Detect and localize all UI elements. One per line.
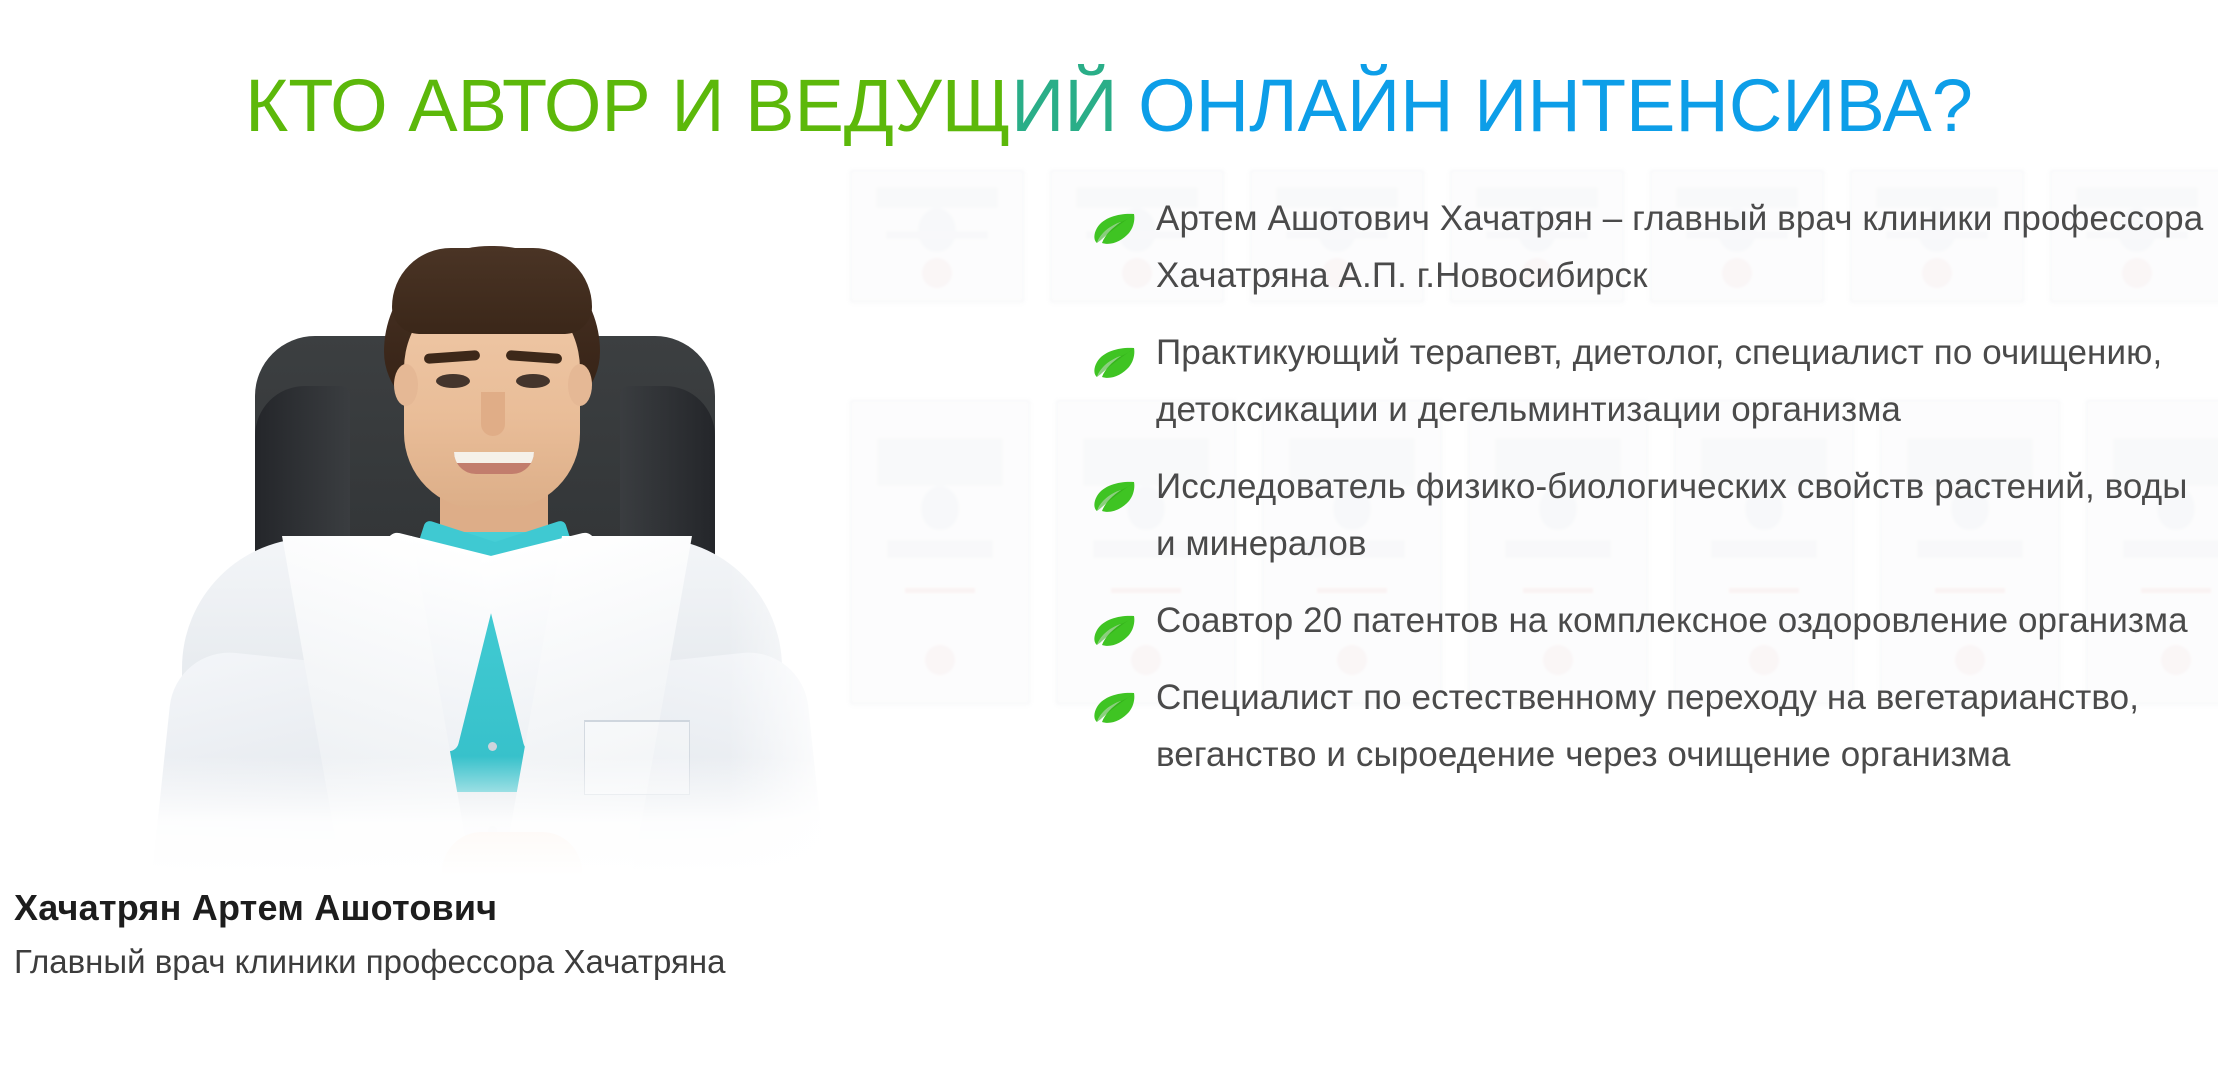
- leaf-icon: [1092, 338, 1136, 370]
- portrait-image: [12, 186, 844, 876]
- doctor-portrait-photo: [12, 186, 844, 876]
- leaf-icon: [1092, 606, 1136, 638]
- leaf-icon: [1092, 204, 1136, 236]
- list-item-text: Специалист по естественному переходу на …: [1156, 678, 2139, 774]
- list-item: Исследователь физико-биологических свойс…: [1090, 458, 2210, 572]
- list-item: Специалист по естественному переходу на …: [1090, 669, 2210, 783]
- list-item: Соавтор 20 патентов на комплексное оздор…: [1090, 592, 2210, 649]
- page-title-green-part: КТО АВТОР И ВЕДУЩ: [245, 64, 1011, 147]
- photo-caption: Хачатрян Артем Ашотович Главный врач кли…: [14, 884, 834, 986]
- page-title-blue-part: ОНЛАЙН ИНТЕНСИВА?: [1138, 64, 1973, 147]
- photo-bottom-fade: [12, 756, 844, 876]
- leaf-icon: [1092, 472, 1136, 504]
- leaf-icon: [1092, 683, 1136, 715]
- certificate-watermark: [850, 170, 1024, 302]
- doctor-name: Хачатрян Артем Ашотович: [14, 884, 834, 932]
- list-item-text: Практикующий терапевт, диетолог, специал…: [1156, 333, 2162, 429]
- doctor-role: Главный врач клиники профессора Хачатрян…: [14, 938, 834, 986]
- author-section: КТО АВТОР И ВЕДУЩИЙ ОНЛАЙН ИНТЕНСИВА?: [0, 0, 2218, 1080]
- certificate-watermark: [850, 400, 1030, 704]
- list-item: Практикующий терапевт, диетолог, специал…: [1090, 324, 2210, 438]
- page-title: КТО АВТОР И ВЕДУЩИЙ ОНЛАЙН ИНТЕНСИВА?: [0, 58, 2218, 154]
- list-item-text: Исследователь физико-биологических свойс…: [1156, 467, 2187, 563]
- page-title-mid-part: ИЙ: [1011, 64, 1138, 147]
- list-item: Артем Ашотович Хачатрян – главный врач к…: [1090, 190, 2210, 304]
- list-item-text: Соавтор 20 патентов на комплексное оздор…: [1156, 601, 2188, 640]
- credentials-list: Артем Ашотович Хачатрян – главный врач к…: [1090, 190, 2210, 803]
- list-item-text: Артем Ашотович Хачатрян – главный врач к…: [1156, 199, 2203, 295]
